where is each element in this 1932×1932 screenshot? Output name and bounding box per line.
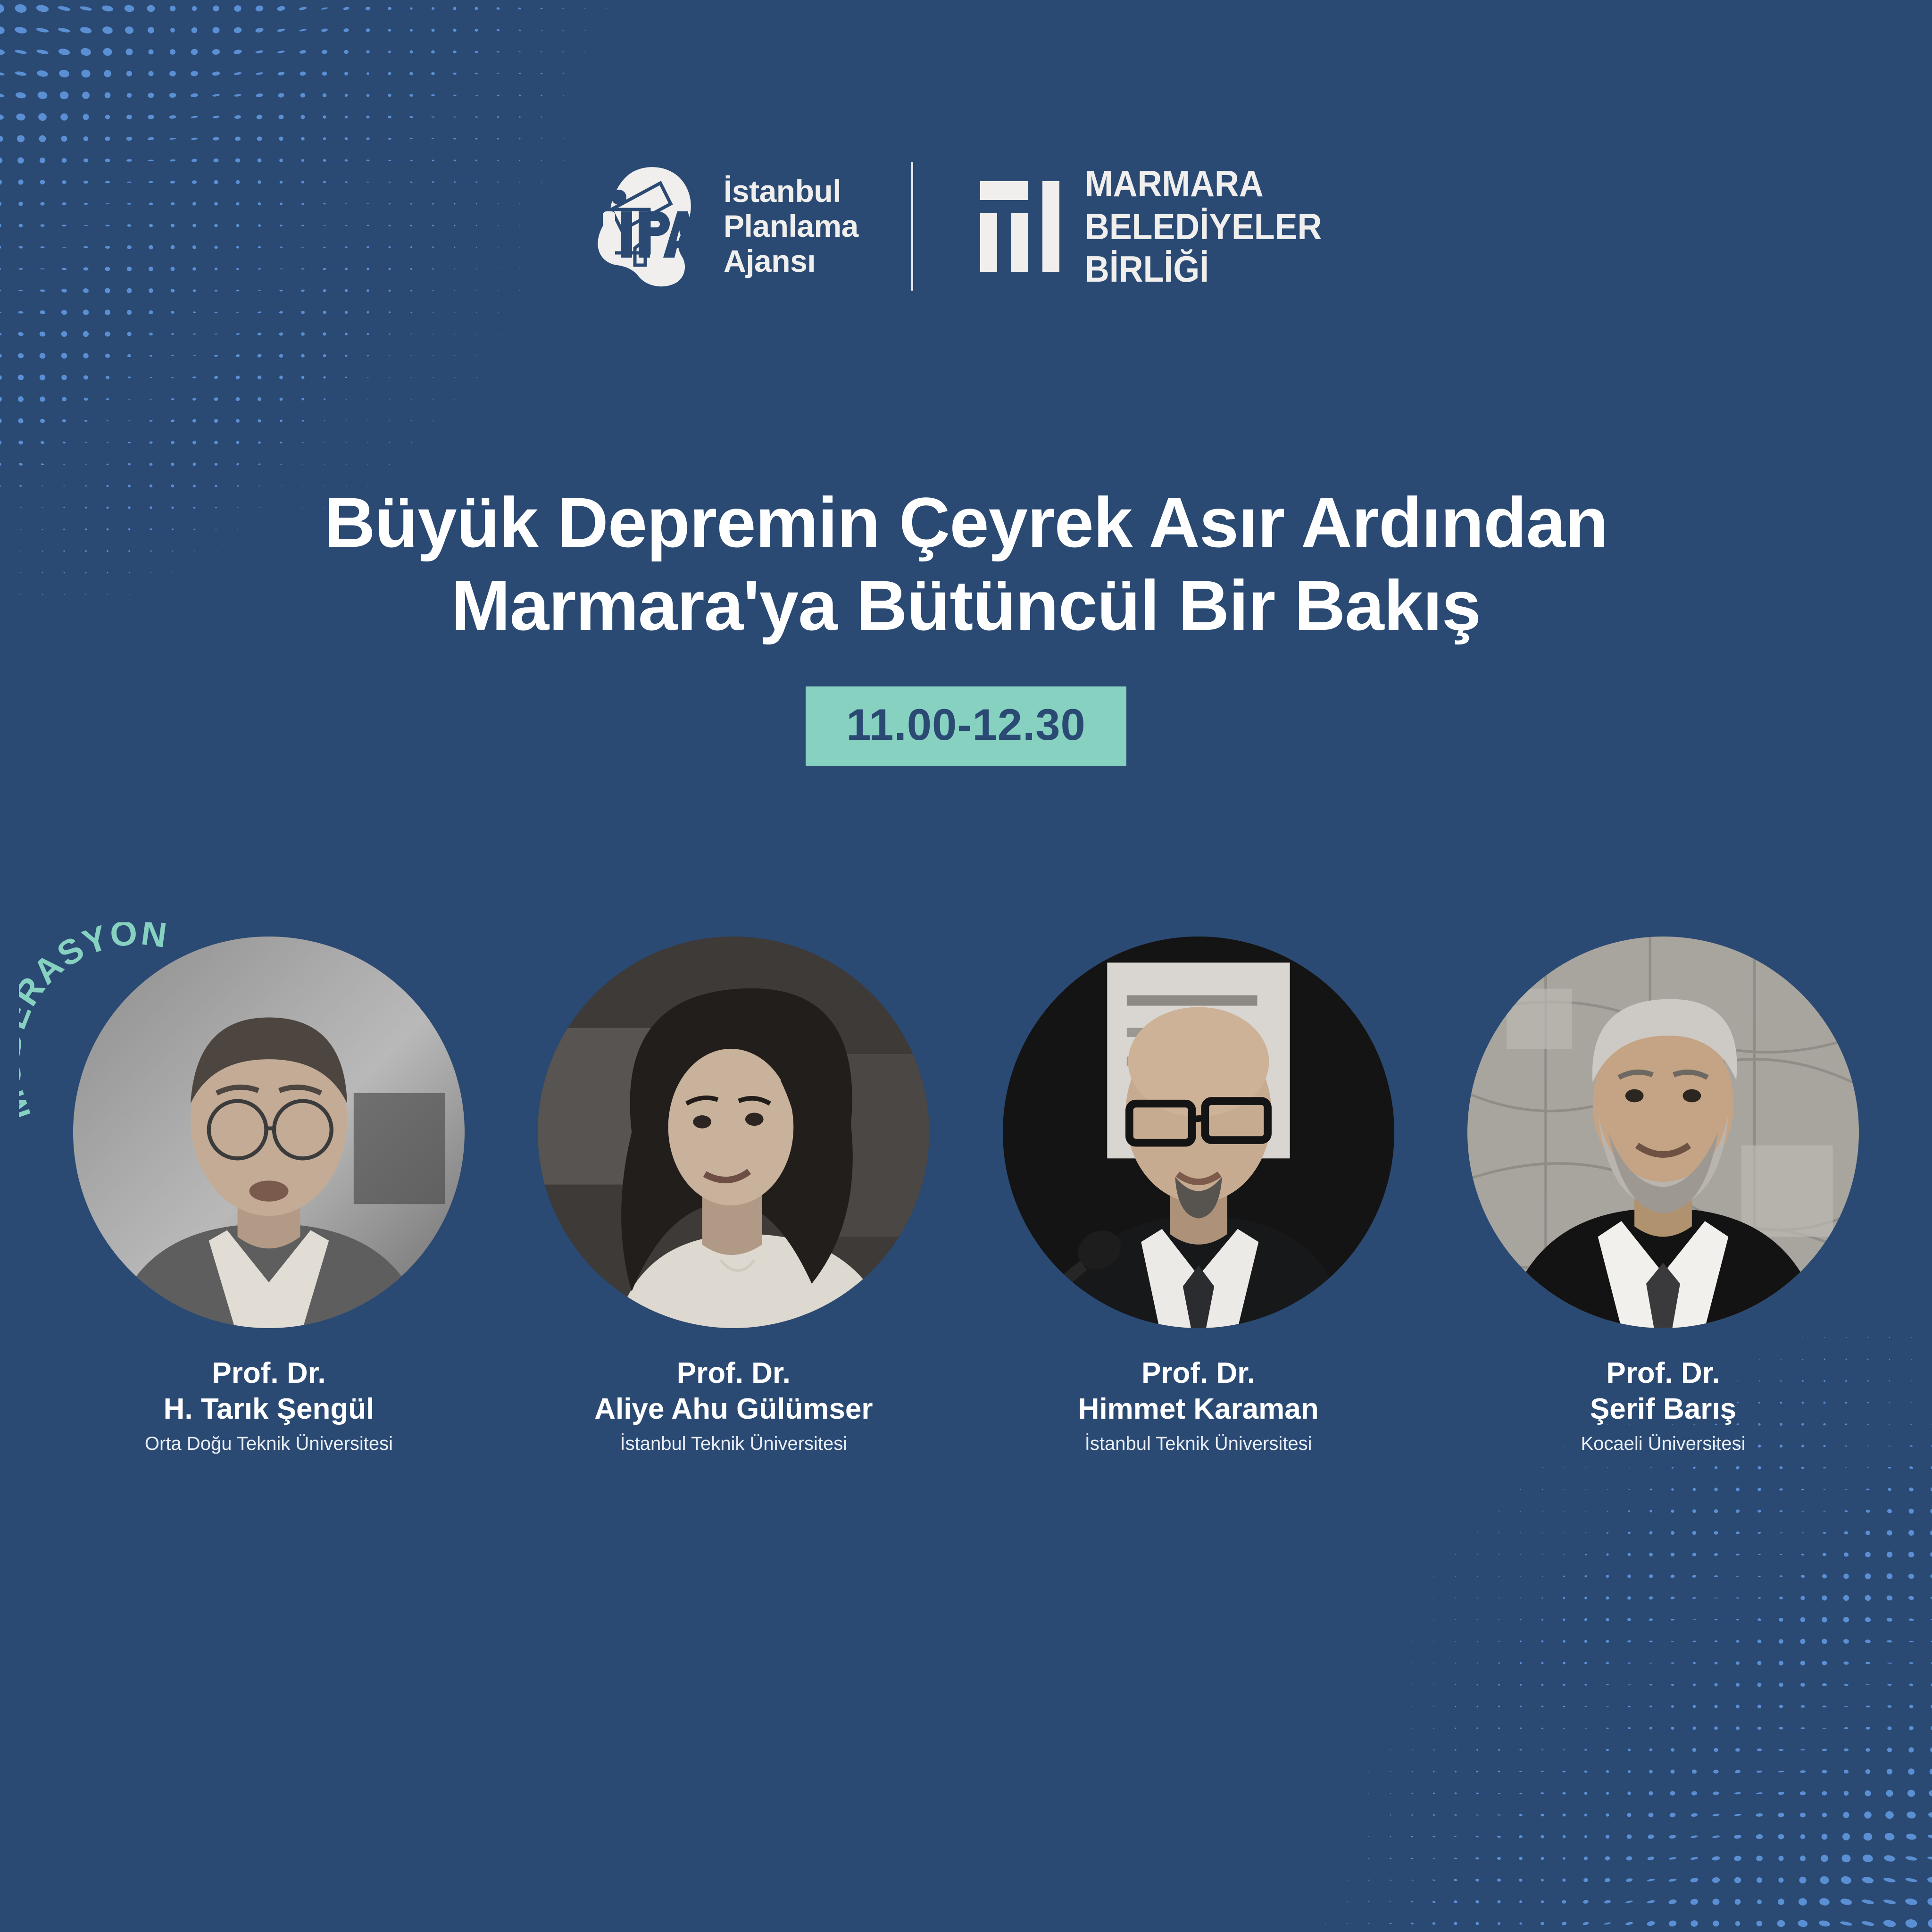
speaker-card: MODERASYON Prof. Dr. H. Tarık Şengül Ort… [57, 937, 481, 1455]
speaker-org: İstanbul Teknik Üniversitesi [620, 1432, 847, 1455]
speaker-photo-h-tarik-sengul [73, 937, 465, 1328]
event-poster: İstanbul Planlama Ajansı MARMARA BELEDİY… [0, 0, 1932, 1932]
speaker-card: Prof. Dr. Şerif Barış Kocaeli Üniversite… [1451, 937, 1875, 1455]
speaker-title: Prof. Dr. [1141, 1355, 1255, 1391]
speaker-name: H. Tarık Şengül [164, 1391, 375, 1427]
speaker-org: Kocaeli Üniversitesi [1581, 1432, 1745, 1455]
ipa-logo: İstanbul Planlama Ajansı [590, 164, 858, 289]
speaker-photo-aliye-ahu-gulumser [538, 937, 929, 1328]
page-title: Büyük Depremin Çeyrek Asır Ardından Marm… [0, 481, 1932, 647]
time-badge: 11.00-12.30 [806, 686, 1126, 766]
marmara-belediyeler-birligi-logo: MARMARA BELEDİYELER BİRLİĞİ [966, 162, 1342, 290]
mbb-mark-icon [966, 170, 1060, 283]
speaker-org: İstanbul Teknik Üniversitesi [1085, 1432, 1312, 1455]
speaker-photo-serif-baris [1467, 937, 1859, 1328]
ipa-mark-icon [590, 164, 708, 289]
speaker-title: Prof. Dr. [677, 1355, 791, 1391]
speaker-card: Prof. Dr. Himmet Karaman İstanbul Teknik… [986, 937, 1411, 1455]
speaker-card: Prof. Dr. Aliye Ahu Gülümser İstanbul Te… [521, 937, 946, 1455]
speaker-title: Prof. Dr. [1606, 1355, 1720, 1391]
speaker-name: Şerif Barış [1590, 1391, 1736, 1427]
speaker-name: Aliye Ahu Gülümser [594, 1391, 873, 1427]
speaker-title: Prof. Dr. [212, 1355, 325, 1391]
speaker-name: Himmet Karaman [1078, 1391, 1319, 1427]
time-badge-row: 11.00-12.30 [0, 686, 1932, 766]
header-logo-row: İstanbul Planlama Ajansı MARMARA BELEDİY… [0, 156, 1932, 297]
speaker-list: MODERASYON Prof. Dr. H. Tarık Şengül Ort… [57, 937, 1875, 1455]
mbb-logo-text: MARMARA BELEDİYELER BİRLİĞİ [1085, 162, 1322, 290]
ipa-logo-text: İstanbul Planlama Ajansı [724, 174, 858, 279]
speaker-org: Orta Doğu Teknik Üniversitesi [145, 1432, 393, 1455]
speaker-photo-himmet-karaman [1003, 937, 1394, 1328]
logo-divider [911, 162, 913, 291]
